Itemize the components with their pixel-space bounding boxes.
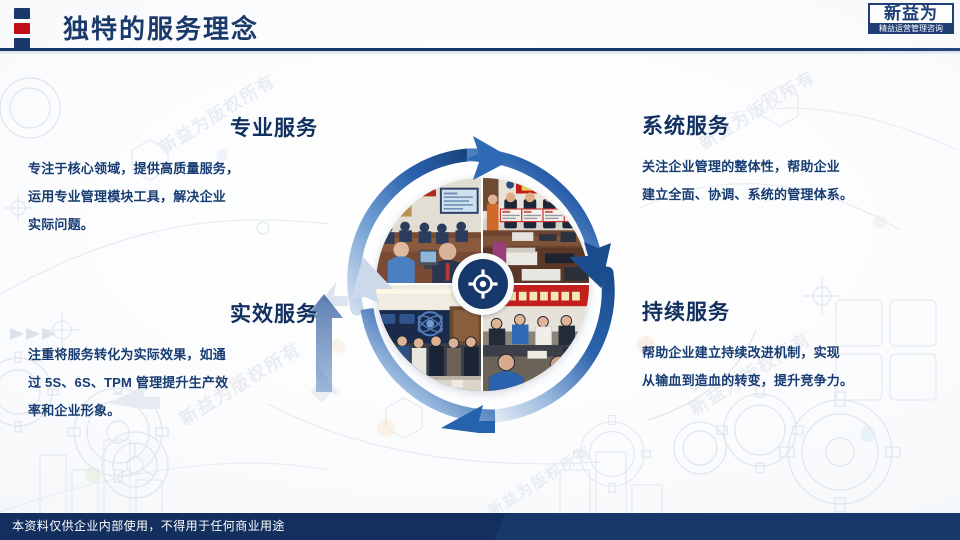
- center-hub: [452, 253, 514, 315]
- block-body-effective-service: 注重将服务转化为实际效果，如通 过 5S、6S、TPM 管理提升生产效 率和企业…: [28, 341, 318, 425]
- block-body-line: 关注企业管理的整体性，帮助企业: [642, 153, 932, 181]
- page-title: 独特的服务理念: [63, 9, 259, 46]
- brand-logo: 新益为 精益运营管理咨询: [868, 3, 954, 34]
- content-block-professional-service: 专业服务 专注于核心领域，提供高质量服务， 运用专业管理模块工具，解决企业 实际…: [28, 112, 318, 239]
- slide-root: 新益为版权所有 新益为版权所有 新益为版权所有 新益为版权所有 新益为版权所有 …: [0, 0, 960, 540]
- content-block-continuous-service: 持续服务 帮助企业建立持续改进机制，实现 从输血到造血的转变，提升竞争力。: [642, 296, 932, 395]
- block-body-line: 从输血到造血的转变，提升竞争力。: [642, 367, 932, 395]
- logo-main-text: 新益为: [873, 6, 949, 23]
- center-graphic: [345, 133, 620, 433]
- block-heading-continuous-service: 持续服务: [642, 296, 932, 326]
- block-body-continuous-service: 帮助企业建立持续改进机制，实现 从输血到造血的转变，提升竞争力。: [642, 339, 932, 395]
- logo-sub-text: 精益运营管理咨询: [868, 23, 954, 34]
- block-heading-effective-service: 实效服务: [28, 298, 318, 328]
- watermark-text: 新益为版权所有: [483, 440, 595, 521]
- block-body-line: 专注于核心领域，提供高质量服务，: [28, 155, 318, 183]
- accent-square-navy-top: [14, 8, 30, 19]
- block-body-professional-service: 专注于核心领域，提供高质量服务， 运用专业管理模块工具，解决企业 实际问题。: [28, 155, 318, 239]
- accent-square-red: [14, 23, 30, 34]
- block-body-line: 率和企业形象。: [28, 397, 318, 425]
- block-body-line: 运用专业管理模块工具，解决企业: [28, 183, 318, 211]
- block-body-line: 实际问题。: [28, 211, 318, 239]
- block-heading-professional-service: 专业服务: [28, 112, 318, 142]
- logo-frame: 新益为: [868, 3, 954, 23]
- center-hub-disc: [458, 259, 508, 309]
- content-block-effective-service: 实效服务 注重将服务转化为实际效果，如通 过 5S、6S、TPM 管理提升生产效…: [28, 298, 318, 425]
- block-body-line: 建立全面、协调、系统的管理体系。: [642, 181, 932, 209]
- target-crosshair-icon: [467, 268, 499, 300]
- block-heading-system-service: 系统服务: [642, 110, 932, 140]
- footer-text: 本资料仅供企业内部使用，不得用于任何商业用途: [12, 513, 285, 540]
- footer-bar: 本资料仅供企业内部使用，不得用于任何商业用途: [0, 513, 960, 540]
- content-block-system-service: 系统服务 关注企业管理的整体性，帮助企业 建立全面、协调、系统的管理体系。: [642, 110, 932, 209]
- block-body-line: 注重将服务转化为实际效果，如通: [28, 341, 318, 369]
- block-body-system-service: 关注企业管理的整体性，帮助企业 建立全面、协调、系统的管理体系。: [642, 153, 932, 209]
- block-body-line: 帮助企业建立持续改进机制，实现: [642, 339, 932, 367]
- title-divider-shadow: [0, 51, 960, 55]
- header-accent-marks: [14, 8, 32, 53]
- block-body-line: 过 5S、6S、TPM 管理提升生产效: [28, 369, 318, 397]
